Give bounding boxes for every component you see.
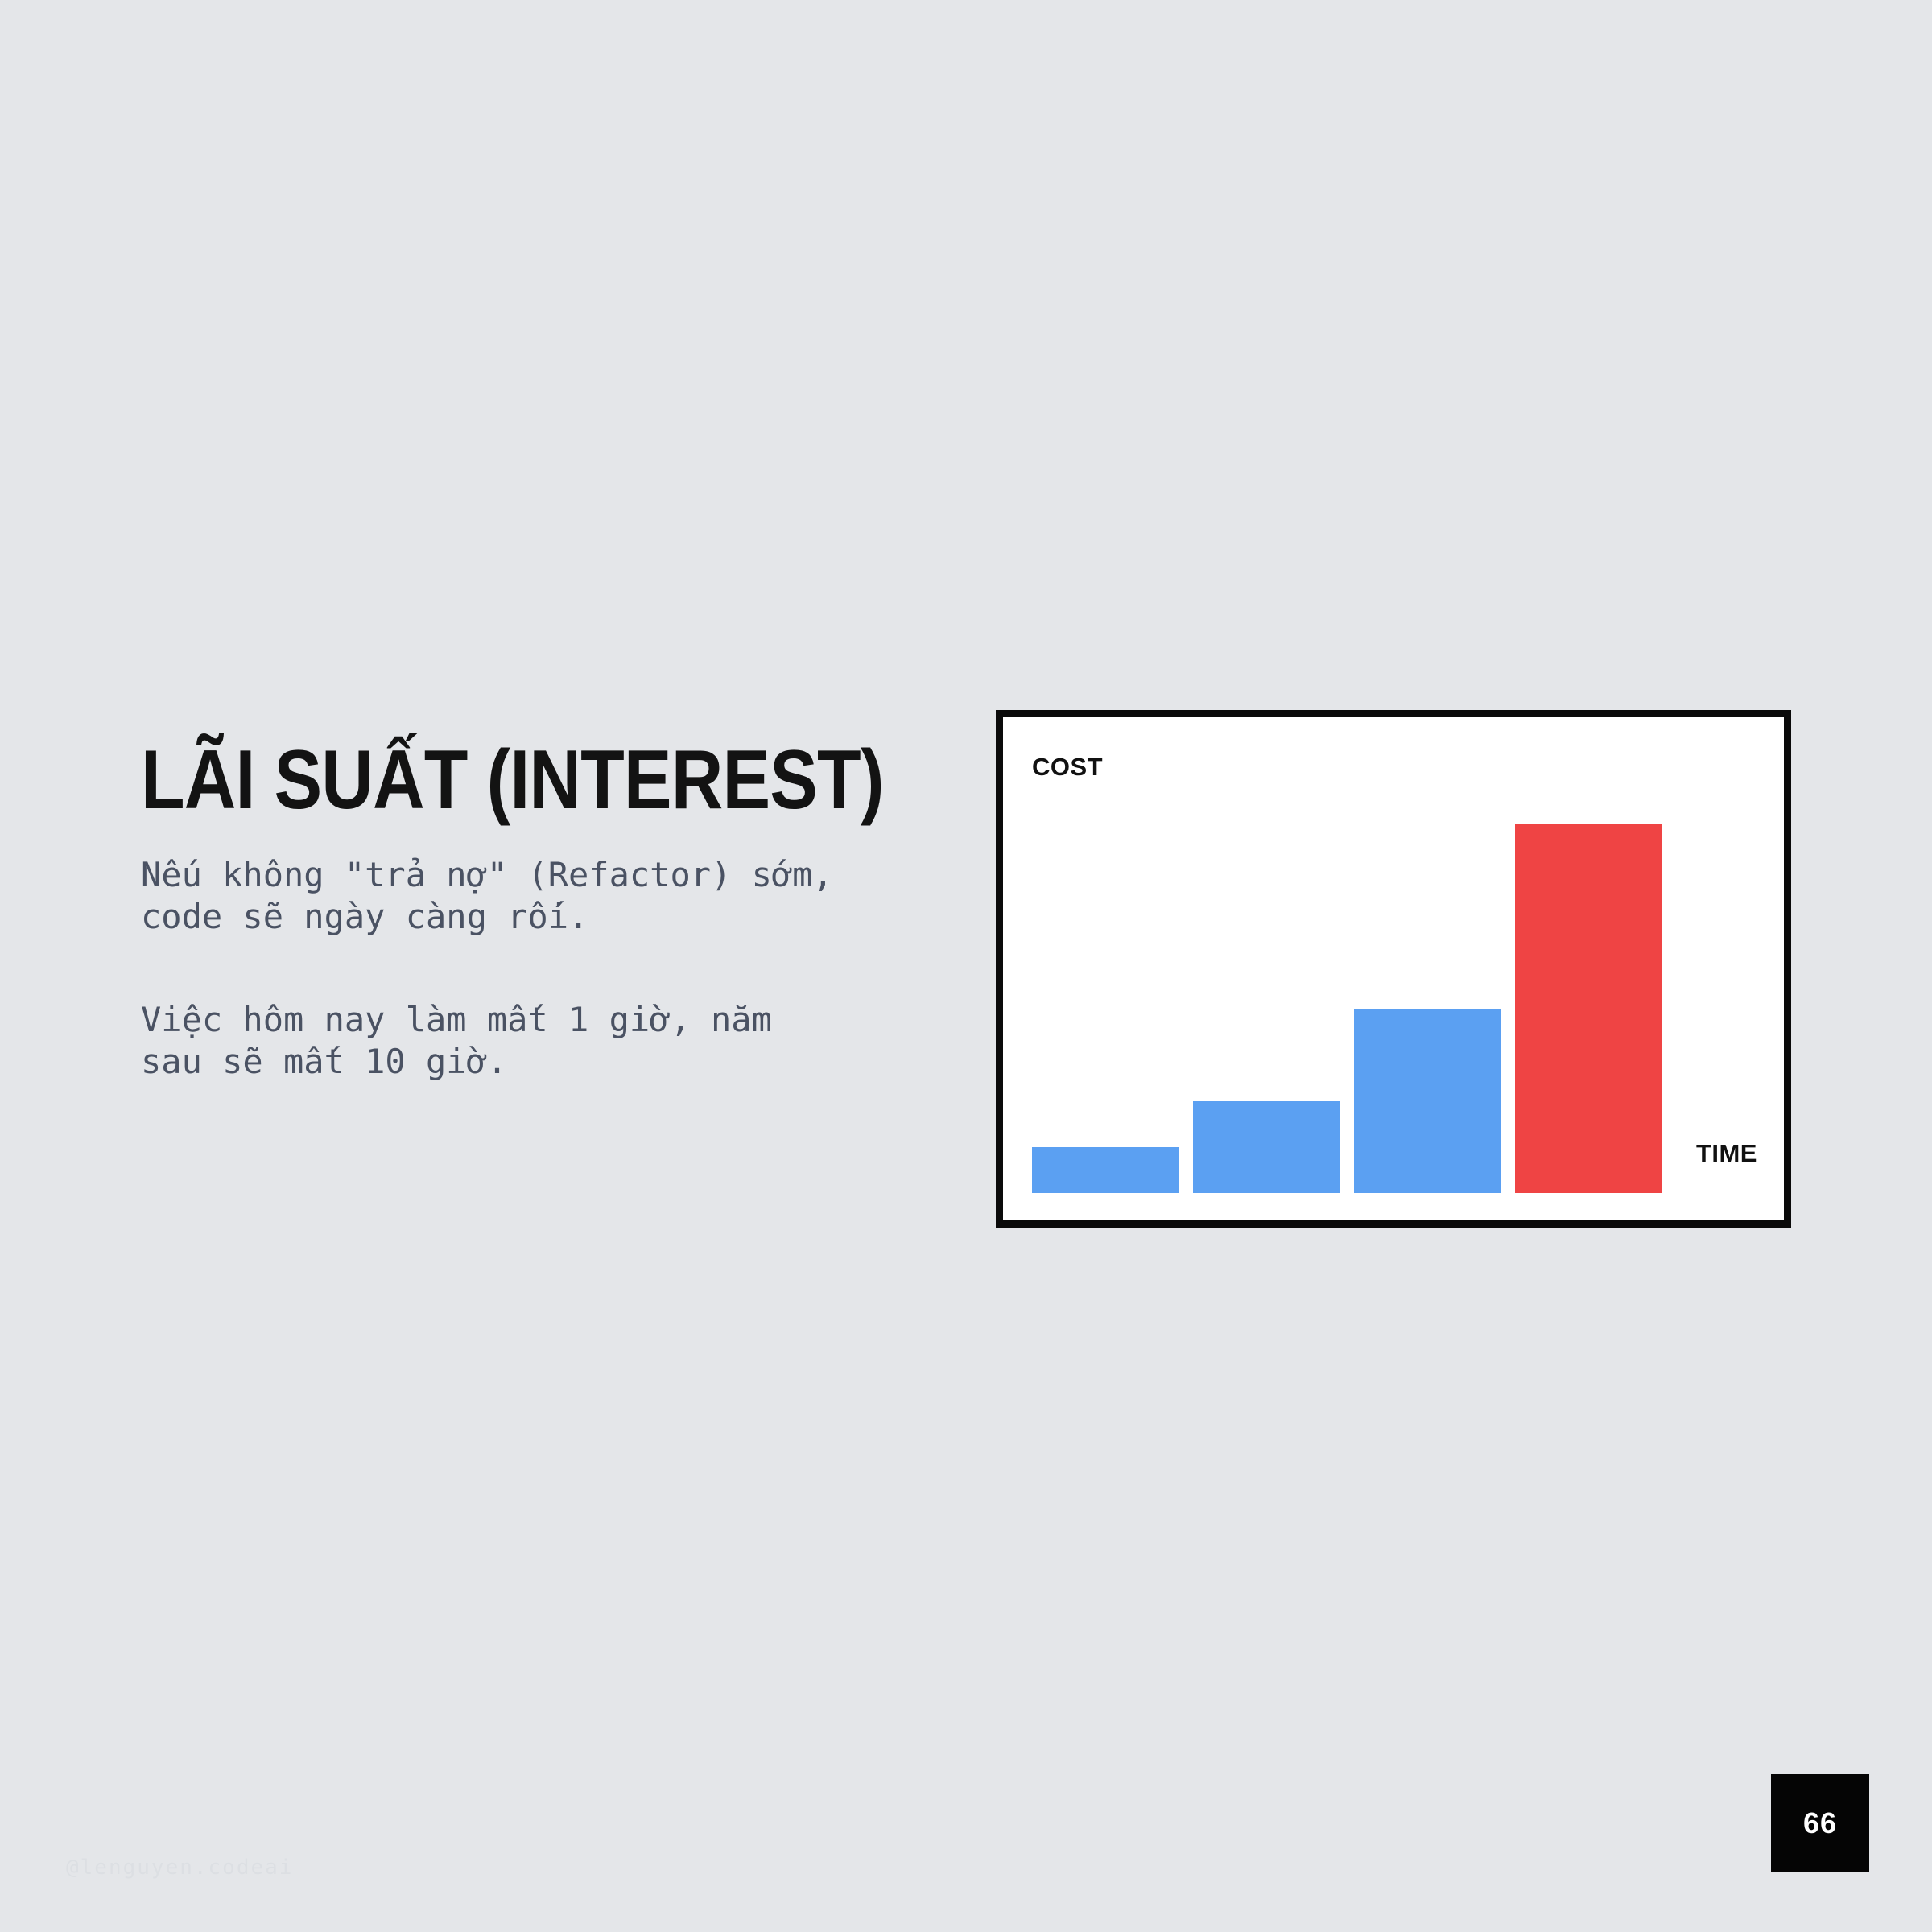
watermark: @lenguyen.codeai xyxy=(66,1856,293,1880)
page-number-badge: 66 xyxy=(1771,1774,1869,1872)
slide-root: LÃI SUẤT (INTEREST) Nếu không "trả nợ" (… xyxy=(0,0,1932,1932)
cost-over-time-chart: COST TIME xyxy=(996,710,1791,1228)
chart-plot-area xyxy=(1032,733,1755,1193)
bar-3 xyxy=(1354,1009,1501,1193)
x-axis-label: TIME xyxy=(1696,1139,1757,1168)
body-text: Nếu không "trả nợ" (Refactor) sớm, code … xyxy=(141,854,946,1083)
body-paragraph-2: Việc hôm nay làm mất 1 giờ, năm sau sẽ m… xyxy=(141,999,946,1083)
bar-2 xyxy=(1193,1101,1340,1193)
page-title: LÃI SUẤT (INTEREST) xyxy=(141,737,833,824)
bar-4 xyxy=(1515,824,1662,1193)
text-column: LÃI SUẤT (INTEREST) Nếu không "trả nợ" (… xyxy=(141,737,946,1083)
page-number-value: 66 xyxy=(1803,1806,1837,1840)
bar-series xyxy=(1032,733,1755,1193)
body-paragraph-1: Nếu không "trả nợ" (Refactor) sớm, code … xyxy=(141,854,946,938)
bar-1 xyxy=(1032,1147,1179,1193)
